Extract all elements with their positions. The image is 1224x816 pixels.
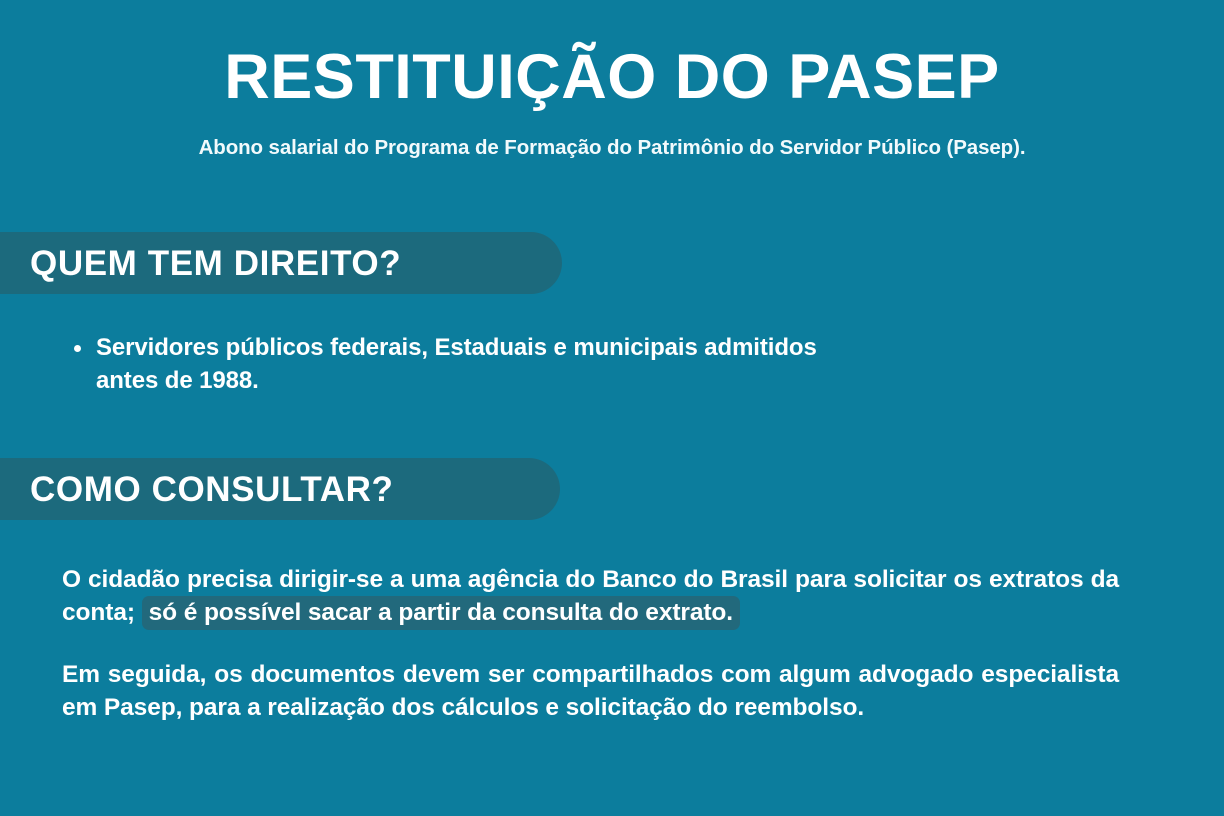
highlighted-text: só é possível sacar a partir da consulta…	[142, 596, 740, 630]
list-item: Servidores públicos federais, Estaduais …	[62, 332, 882, 397]
page-title: RESTITUIÇÃO DO PASEP	[0, 46, 1224, 109]
page-subtitle: Abono salarial do Programa de Formação d…	[0, 136, 1224, 161]
body-paragraph: O cidadão precisa dirigir-se a uma agênc…	[62, 564, 1119, 629]
body-block-como-consultar: O cidadão precisa dirigir-se a uma agênc…	[62, 564, 1119, 724]
section-header-label: QUEM TEM DIREITO?	[30, 246, 401, 281]
section-header-label: COMO CONSULTAR?	[30, 472, 394, 507]
title-block: RESTITUIÇÃO DO PASEP Abono salarial do P…	[0, 46, 1224, 161]
section-header-como-consultar: COMO CONSULTAR?	[0, 458, 560, 520]
list-item-emphasis: antes de 1988.	[96, 367, 259, 394]
body-paragraph: Em seguida, os documentos devem ser comp…	[62, 659, 1119, 724]
bullet-dot-icon	[74, 345, 81, 352]
bullet-list-quem-tem-direito: Servidores públicos federais, Estaduais …	[62, 332, 882, 397]
slide-root: RESTITUIÇÃO DO PASEP Abono salarial do P…	[0, 0, 1224, 816]
paragraph-text: Em seguida, os documentos devem ser comp…	[62, 661, 1119, 721]
list-item-text: Servidores públicos federais, Estaduais …	[96, 334, 817, 361]
section-header-quem-tem-direito: QUEM TEM DIREITO?	[0, 232, 562, 294]
